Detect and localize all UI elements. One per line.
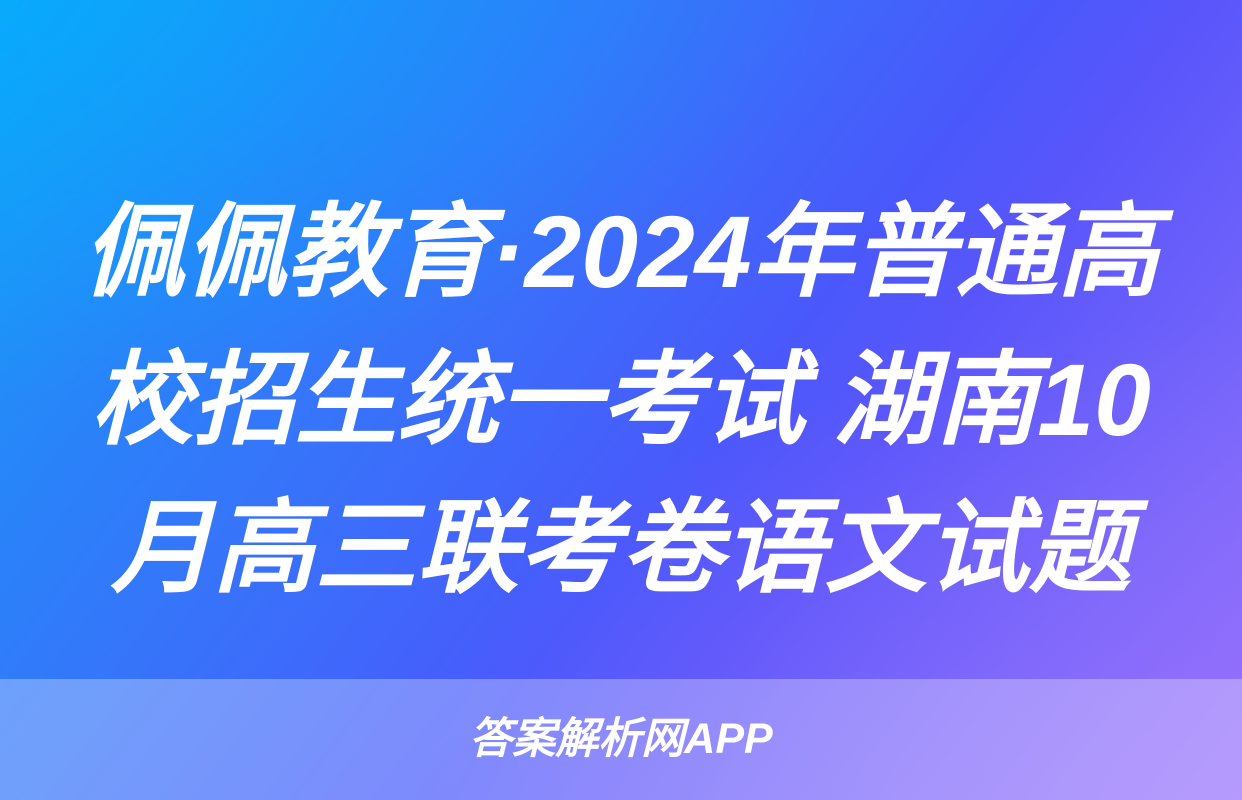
poster-card: 佩佩教育·2024年普通高 校招生统一考试 湖南10 月高三联考卷语文试题 答案… xyxy=(0,0,1242,800)
page-title: 佩佩教育·2024年普通高 校招生统一考试 湖南10 月高三联考卷语文试题 xyxy=(0,178,1242,622)
title-line-1: 佩佩教育·2024年普通高 xyxy=(34,178,1208,326)
watermark-brand: 答案解析网APP xyxy=(0,711,1242,767)
title-line-2: 校招生统一考试 湖南10 xyxy=(34,326,1208,474)
title-line-3: 月高三联考卷语文试题 xyxy=(34,474,1208,622)
